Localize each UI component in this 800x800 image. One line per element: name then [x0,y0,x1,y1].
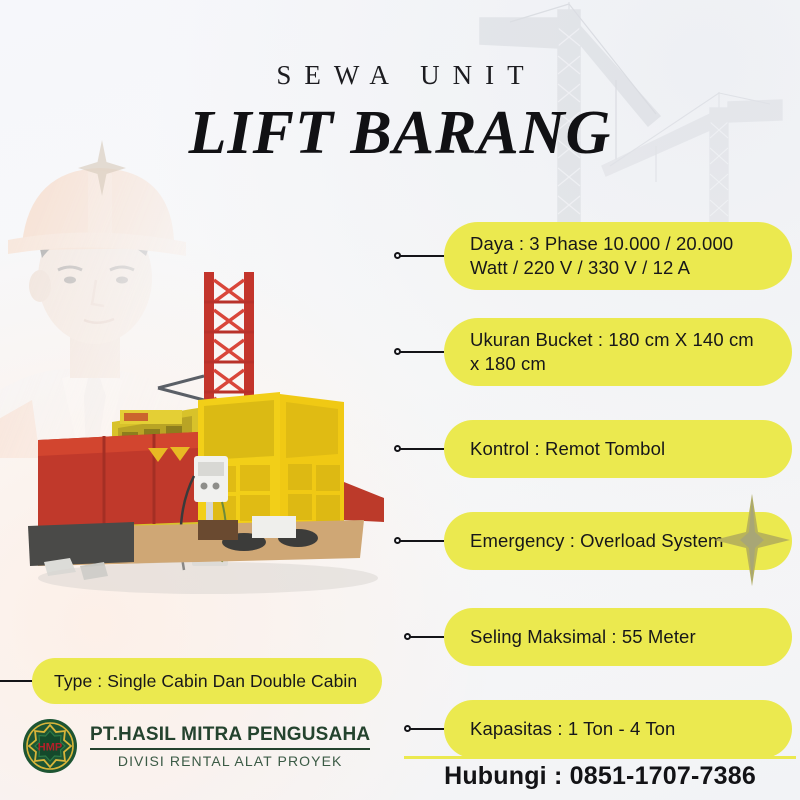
connector-dot-kontrol [394,445,401,452]
connector-line-emergency [398,540,444,542]
company-logo-icon: HMP [22,718,78,774]
connector-line-daya [398,255,444,257]
page-title: LIFT BARANG [0,101,800,166]
connector-dot-bucket [394,348,401,355]
connector-line-seling [408,636,444,638]
connector-dot-daya [394,252,401,259]
connector-line-kapasitas [408,728,444,730]
connector-dot-emergency [394,537,401,544]
spec-pill-kapasitas: Kapasitas : 1 Ton - 4 Ton [444,700,792,758]
spec-pill-type: Type : Single Cabin Dan Double Cabin [32,658,382,704]
headline-block: SEWA UNIT LIFT BARANG [0,62,800,166]
eyebrow-text: SEWA UNIT [0,62,800,89]
connector-dot-kapasitas [404,725,411,732]
connector-dot-seling [404,633,411,640]
logo-monogram-text: HMP [38,742,62,754]
poster-canvas: SEWA UNIT LIFT BARANG Daya : 3 Phase 10.… [0,0,800,800]
company-name: PT.HASIL MITRA PENGUSAHA [90,724,370,750]
spec-pill-daya: Daya : 3 Phase 10.000 / 20.000 Watt / 22… [444,222,792,290]
goods-lift-equipment-photo [8,270,398,610]
brand-block: HMP PT.HASIL MITRA PENGUSAHA DIVISI RENT… [22,718,370,774]
spec-pill-kontrol: Kontrol : Remot Tombol [444,420,792,478]
spec-pill-bucket: Ukuran Bucket : 180 cm X 140 cm x 180 cm [444,318,792,386]
contact-accent-line [404,756,796,759]
connector-line-type [0,680,34,682]
company-division: DIVISI RENTAL ALAT PROYEK [90,753,370,769]
connector-line-kontrol [398,448,444,450]
connector-line-bucket [398,351,444,353]
sparkle-accent-icon [714,494,790,586]
spec-pill-seling: Seling Maksimal : 55 Meter [444,608,792,666]
contact-phone[interactable]: Hubungi : 0851-1707-7386 [404,762,796,791]
